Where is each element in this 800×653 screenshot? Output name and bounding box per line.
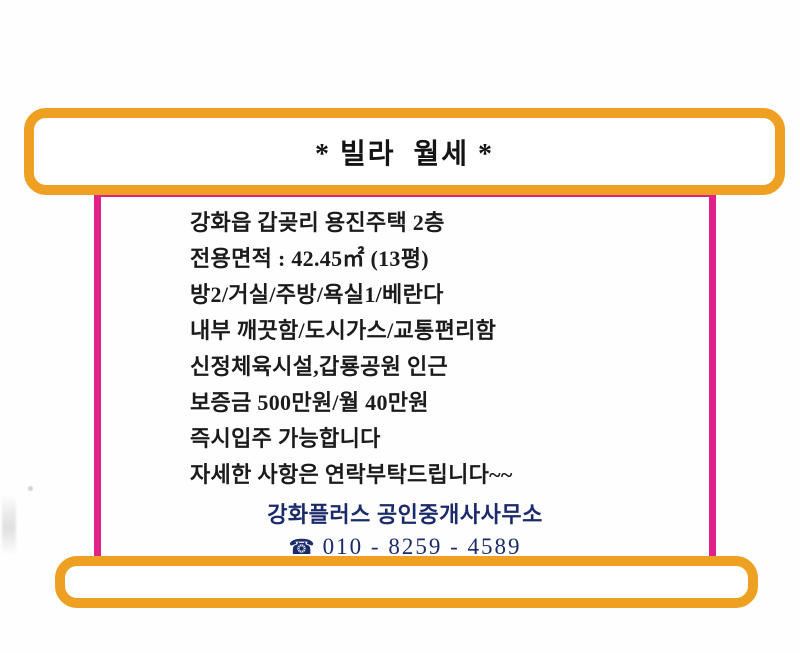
scan-artifact [2,495,16,555]
contact-block: 강화플러스 공인중개사사무소 ☎ 010 - 8259 - 4589 [100,500,710,562]
scan-artifact-dot [28,486,33,491]
listing-details: 강화읍 갑곶리 용진주택 2층 전용면적 : 42.45㎡ (13평) 방2/거… [190,205,610,493]
listing-line: 자세한 사항은 연락부탁드립니다~~ [190,457,610,493]
flyer-page: * 빌라 월세 * 강화읍 갑곶리 용진주택 2층 전용면적 : 42.45㎡ … [0,0,800,653]
listing-line: 신정체육시설,갑룡공원 인근 [190,349,610,385]
bottom-banner-box [55,556,758,608]
telephone-icon: ☎ [289,537,315,558]
page-title: * 빌라 월세 * [315,132,494,172]
listing-line: 방2/거실/주방/욕실1/베란다 [190,277,610,313]
listing-line: 보증금 500만원/월 40만원 [190,385,610,421]
listing-line: 즉시입주 가능합니다 [190,421,610,457]
listing-line: 강화읍 갑곶리 용진주택 2층 [190,205,610,241]
listing-line: 내부 깨끗함/도시가스/교통편리함 [190,313,610,349]
title-container: * 빌라 월세 * [24,108,785,195]
listing-line: 전용면적 : 42.45㎡ (13평) [190,241,610,277]
agency-name: 강화플러스 공인중개사사무소 [100,500,710,530]
